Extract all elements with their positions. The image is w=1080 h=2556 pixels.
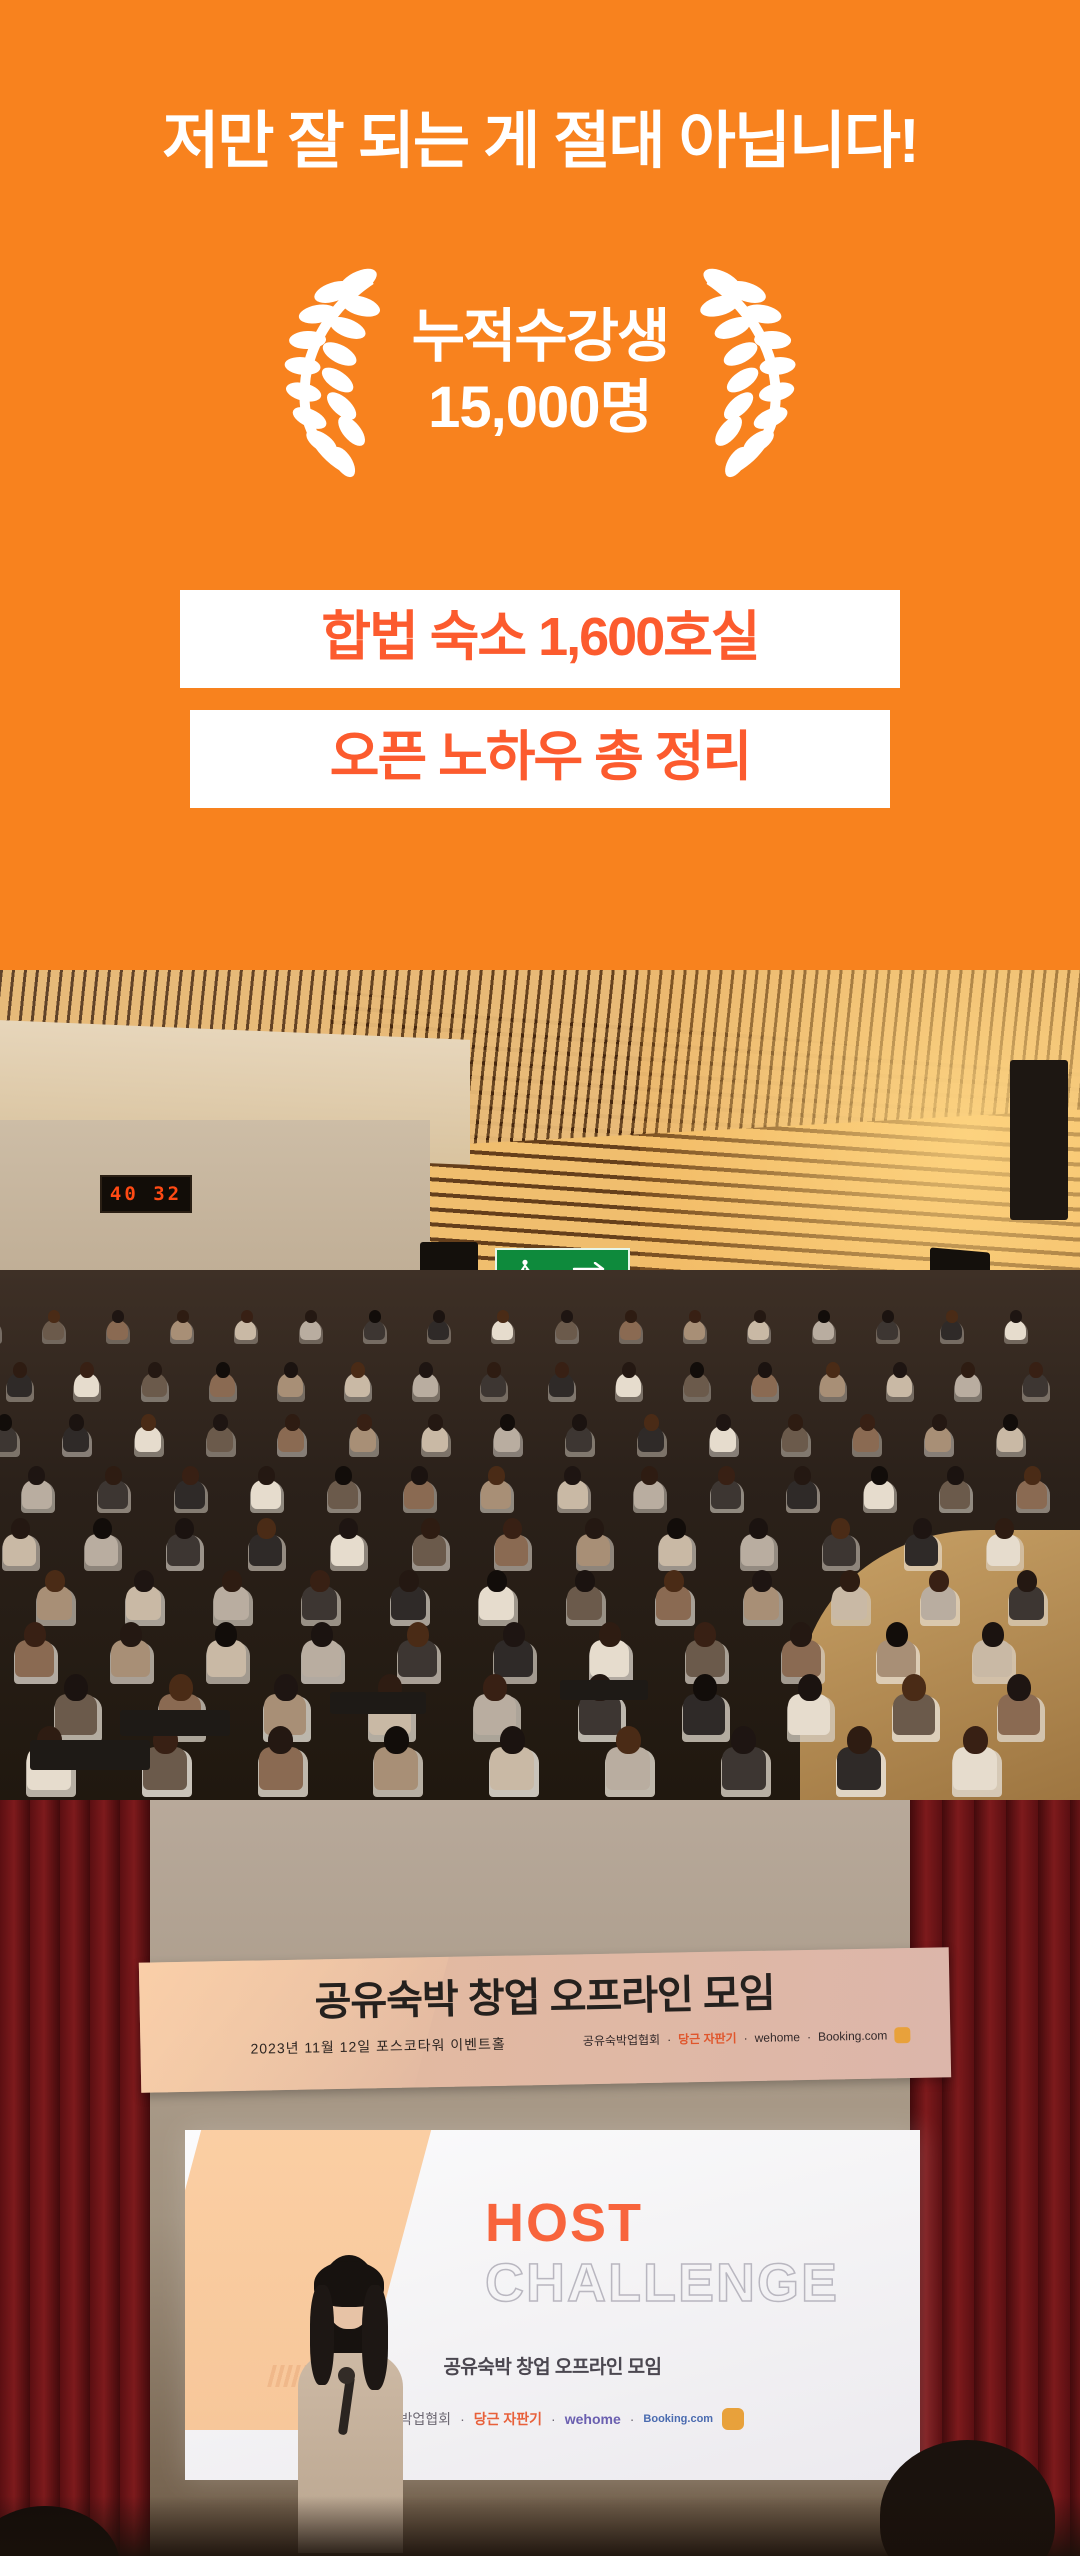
- claims-group: 합법 숙소 1,600호실 오픈 노하우 총 정리: [0, 590, 1080, 808]
- audience-member-head: [572, 1414, 587, 1431]
- audience-member-head: [831, 1518, 850, 1539]
- audience-member-head: [399, 1570, 419, 1592]
- audience-member-head: [1010, 1310, 1022, 1323]
- audience-member-head: [421, 1518, 440, 1539]
- audience-member-head: [718, 1466, 735, 1485]
- audience-member-head: [134, 1570, 154, 1592]
- audience-member-head: [886, 1622, 908, 1647]
- audience-member-head: [1007, 1674, 1031, 1701]
- audience-member-head: [411, 1466, 428, 1485]
- audience-member-head: [995, 1518, 1014, 1539]
- audience-member-head: [932, 1414, 947, 1431]
- laptop-desk: [330, 1692, 426, 1714]
- audience-member-head: [419, 1362, 433, 1378]
- audience-member-head: [585, 1518, 604, 1539]
- page-title: 저만 잘 되는 게 절대 아닙니다!: [0, 108, 1080, 176]
- audience-member-head: [758, 1362, 772, 1378]
- audience-member-head: [882, 1310, 894, 1323]
- audience-member-head: [487, 1362, 501, 1378]
- sponsor-separator: ·: [667, 2032, 671, 2046]
- sponsor-separator-3: ·: [807, 2029, 811, 2043]
- audience-member-head: [141, 1414, 156, 1431]
- audience-member-head: [752, 1570, 772, 1592]
- audience-member-head: [497, 1310, 509, 1323]
- stage-curtain-left: [0, 1800, 150, 2556]
- audience-member-head: [690, 1362, 704, 1378]
- audience-member-head: [93, 1518, 112, 1539]
- audience-member-head: [177, 1310, 189, 1323]
- audience-member-head: [215, 1622, 237, 1647]
- audience-member-head: [169, 1674, 193, 1701]
- audience-member-head: [69, 1414, 84, 1431]
- audience-member-head: [182, 1466, 199, 1485]
- audience-member-head: [622, 1362, 636, 1378]
- audience-member-head: [305, 1310, 317, 1323]
- audience-member-head: [798, 1674, 822, 1701]
- audience-member-head: [487, 1570, 507, 1592]
- audience-member-head: [555, 1362, 569, 1378]
- audience-member-head: [871, 1466, 888, 1485]
- audience-member-head: [120, 1622, 142, 1647]
- sponsor-association: 공유숙박업협회: [583, 2031, 661, 2049]
- audience-member-head: [105, 1466, 122, 1485]
- screen-sponsor-sep-2: ·: [551, 2411, 556, 2427]
- audience-member-head: [407, 1622, 429, 1647]
- audience-member-head: [28, 1466, 45, 1485]
- audience-member-head: [693, 1674, 717, 1701]
- audience-member-head: [64, 1674, 88, 1701]
- audience-member-head: [310, 1570, 330, 1592]
- audience-member-head: [644, 1414, 659, 1431]
- led-counter-display: 40 32: [100, 1175, 192, 1213]
- audience-member-head: [1024, 1466, 1041, 1485]
- audience-member-head: [694, 1622, 716, 1647]
- hero-section: 저만 잘 되는 게 절대 아닙니다!: [0, 0, 1080, 970]
- audience-member-head: [860, 1414, 875, 1431]
- audience-member-head: [616, 1726, 641, 1754]
- audience-member-head: [947, 1466, 964, 1485]
- event-banner-sponsors: 공유숙박업협회 · 당근 자판기 · wehome · Booking.com: [583, 2026, 911, 2049]
- audience-member-head: [961, 1362, 975, 1378]
- screen-sponsor-sep-3: ·: [630, 2411, 635, 2427]
- microphone-head-icon: [338, 2367, 355, 2384]
- claim-box-legal-rooms: 합법 숙소 1,600호실: [180, 590, 900, 688]
- stage-photo: 공유숙박 창업 오프라인 모임 2023년 11월 12일 포스코타워 이벤트홀…: [0, 1800, 1080, 2556]
- audience-member-head: [749, 1518, 768, 1539]
- audience-member-head: [946, 1310, 958, 1323]
- audience-member-head: [503, 1518, 522, 1539]
- screen-sponsor-jibangi: 당근 자판기: [474, 2409, 542, 2429]
- audience-member-head: [335, 1466, 352, 1485]
- audience-member-head: [488, 1466, 505, 1485]
- screen-sponsor-wehome: wehome: [565, 2411, 621, 2427]
- audience-member-head: [500, 1414, 515, 1431]
- audience-member-head: [241, 1310, 253, 1323]
- audience-member-head: [483, 1674, 507, 1701]
- sponsor-separator-2: ·: [744, 2031, 748, 2045]
- audience-member-head: [339, 1518, 358, 1539]
- speaker-hair-left: [310, 2285, 334, 2385]
- laptop-desk: [30, 1740, 150, 1770]
- audience-member-head: [351, 1362, 365, 1378]
- audience-member-head: [731, 1726, 756, 1754]
- audience-member-head: [847, 1726, 872, 1754]
- audience-member-head: [913, 1518, 932, 1539]
- audience-member-head: [1017, 1570, 1037, 1592]
- audience-member-head: [902, 1674, 926, 1701]
- audience-member-head: [818, 1310, 830, 1323]
- speaker-box-corner: [1010, 1060, 1068, 1220]
- audience-member-head: [599, 1622, 621, 1647]
- audience-member-head: [11, 1518, 30, 1539]
- audience-member-head: [794, 1466, 811, 1485]
- auditorium-photo: 40 32 (function(){ var wrap = document.c…: [0, 970, 1080, 1800]
- audience-member-head: [216, 1362, 230, 1378]
- audience-member-head: [369, 1310, 381, 1323]
- audience-member-head: [1029, 1362, 1043, 1378]
- audience-member-head: [826, 1362, 840, 1378]
- laptop-desk: [560, 1680, 648, 1700]
- audience-member-head: [840, 1570, 860, 1592]
- audience-member-head: [790, 1622, 812, 1647]
- sponsor-badge-icon: [894, 2026, 910, 2042]
- audience-member-head: [625, 1310, 637, 1323]
- audience-member-head: [148, 1362, 162, 1378]
- audience-member-head: [222, 1570, 242, 1592]
- screen-sponsor-booking: Booking.com: [643, 2413, 713, 2425]
- audience-member-head: [667, 1518, 686, 1539]
- audience-member-head: [45, 1570, 65, 1592]
- audience-member-head: [213, 1414, 228, 1431]
- audience-member-head: [500, 1726, 525, 1754]
- screen-word-challenge: CHALLENGE: [485, 2252, 839, 2314]
- audience-member-head: [311, 1622, 333, 1647]
- audience-member-head: [384, 1726, 409, 1754]
- audience-member-head: [428, 1414, 443, 1431]
- sponsor-wehome: wehome: [755, 2030, 801, 2045]
- audience-member-head: [24, 1622, 46, 1647]
- stage-vignette: [0, 2496, 1080, 2556]
- audience-member-head: [274, 1674, 298, 1701]
- badge-line-students-count: 15,000명: [412, 373, 669, 444]
- landing-page: 저만 잘 되는 게 절대 아닙니다!: [0, 0, 1080, 2556]
- audience-member-head: [357, 1414, 372, 1431]
- audience-member-head: [754, 1310, 766, 1323]
- screen-sponsor-badge-icon: [722, 2408, 744, 2430]
- audience-member-head: [1003, 1414, 1018, 1431]
- laurel-wreath-left-icon: [270, 266, 400, 481]
- audience-member-head: [13, 1362, 27, 1378]
- laurel-wreath-right-icon: [680, 266, 810, 481]
- audience-member-head: [503, 1622, 525, 1647]
- audience-member-head: [175, 1518, 194, 1539]
- audience-member-head: [788, 1414, 803, 1431]
- sponsor-jibangi: 당근 자판기: [678, 2029, 737, 2047]
- audience-member-head: [48, 1310, 60, 1323]
- badge-line-students-label: 누적수강생: [412, 302, 669, 373]
- sponsor-booking: Booking.com: [818, 2028, 888, 2043]
- audience-member-head: [561, 1310, 573, 1323]
- audience-member-head: [641, 1466, 658, 1485]
- achievement-badge: 누적수강생 15,000명: [0, 258, 1080, 488]
- auditorium-seat: [0, 1321, 2, 1344]
- badge-text-group: 누적수강생 15,000명: [406, 302, 675, 444]
- laptop-desk: [120, 1710, 230, 1736]
- screen-word-host: HOST: [485, 2192, 643, 2254]
- audience-member-head: [664, 1570, 684, 1592]
- audience-member-head: [112, 1310, 124, 1323]
- audience-crowd: (function(){ var wrap = document.current…: [0, 1240, 1080, 1800]
- event-banner-subtitle: 2023년 11월 12일 포스코타워 이벤트홀: [250, 2034, 506, 2059]
- audience-member-head: [929, 1570, 949, 1592]
- claim-box-open-knowhow: 오픈 노하우 총 정리: [190, 710, 890, 808]
- audience-member-head: [433, 1310, 445, 1323]
- audience-member-head: [893, 1362, 907, 1378]
- audience-member-head: [257, 1518, 276, 1539]
- event-banner: 공유숙박 창업 오프라인 모임 2023년 11월 12일 포스코타워 이벤트홀…: [139, 1947, 951, 2093]
- audience-member-head: [284, 1362, 298, 1378]
- audience-member-head: [963, 1726, 988, 1754]
- audience-member-head: [575, 1570, 595, 1592]
- audience-member-head: [564, 1466, 581, 1485]
- audience-member-head: [716, 1414, 731, 1431]
- screen-sponsor-sep-1: ·: [460, 2411, 465, 2427]
- speaker-hair-right: [362, 2285, 388, 2390]
- led-counter-value: 40 32: [110, 1183, 182, 1205]
- audience-member-head: [982, 1622, 1004, 1647]
- audience-member-head: [258, 1466, 275, 1485]
- stage-curtain-right: [910, 1800, 1080, 2556]
- audience-member-head: [285, 1414, 300, 1431]
- audience-member-head: [268, 1726, 293, 1754]
- audience-member-head: [80, 1362, 94, 1378]
